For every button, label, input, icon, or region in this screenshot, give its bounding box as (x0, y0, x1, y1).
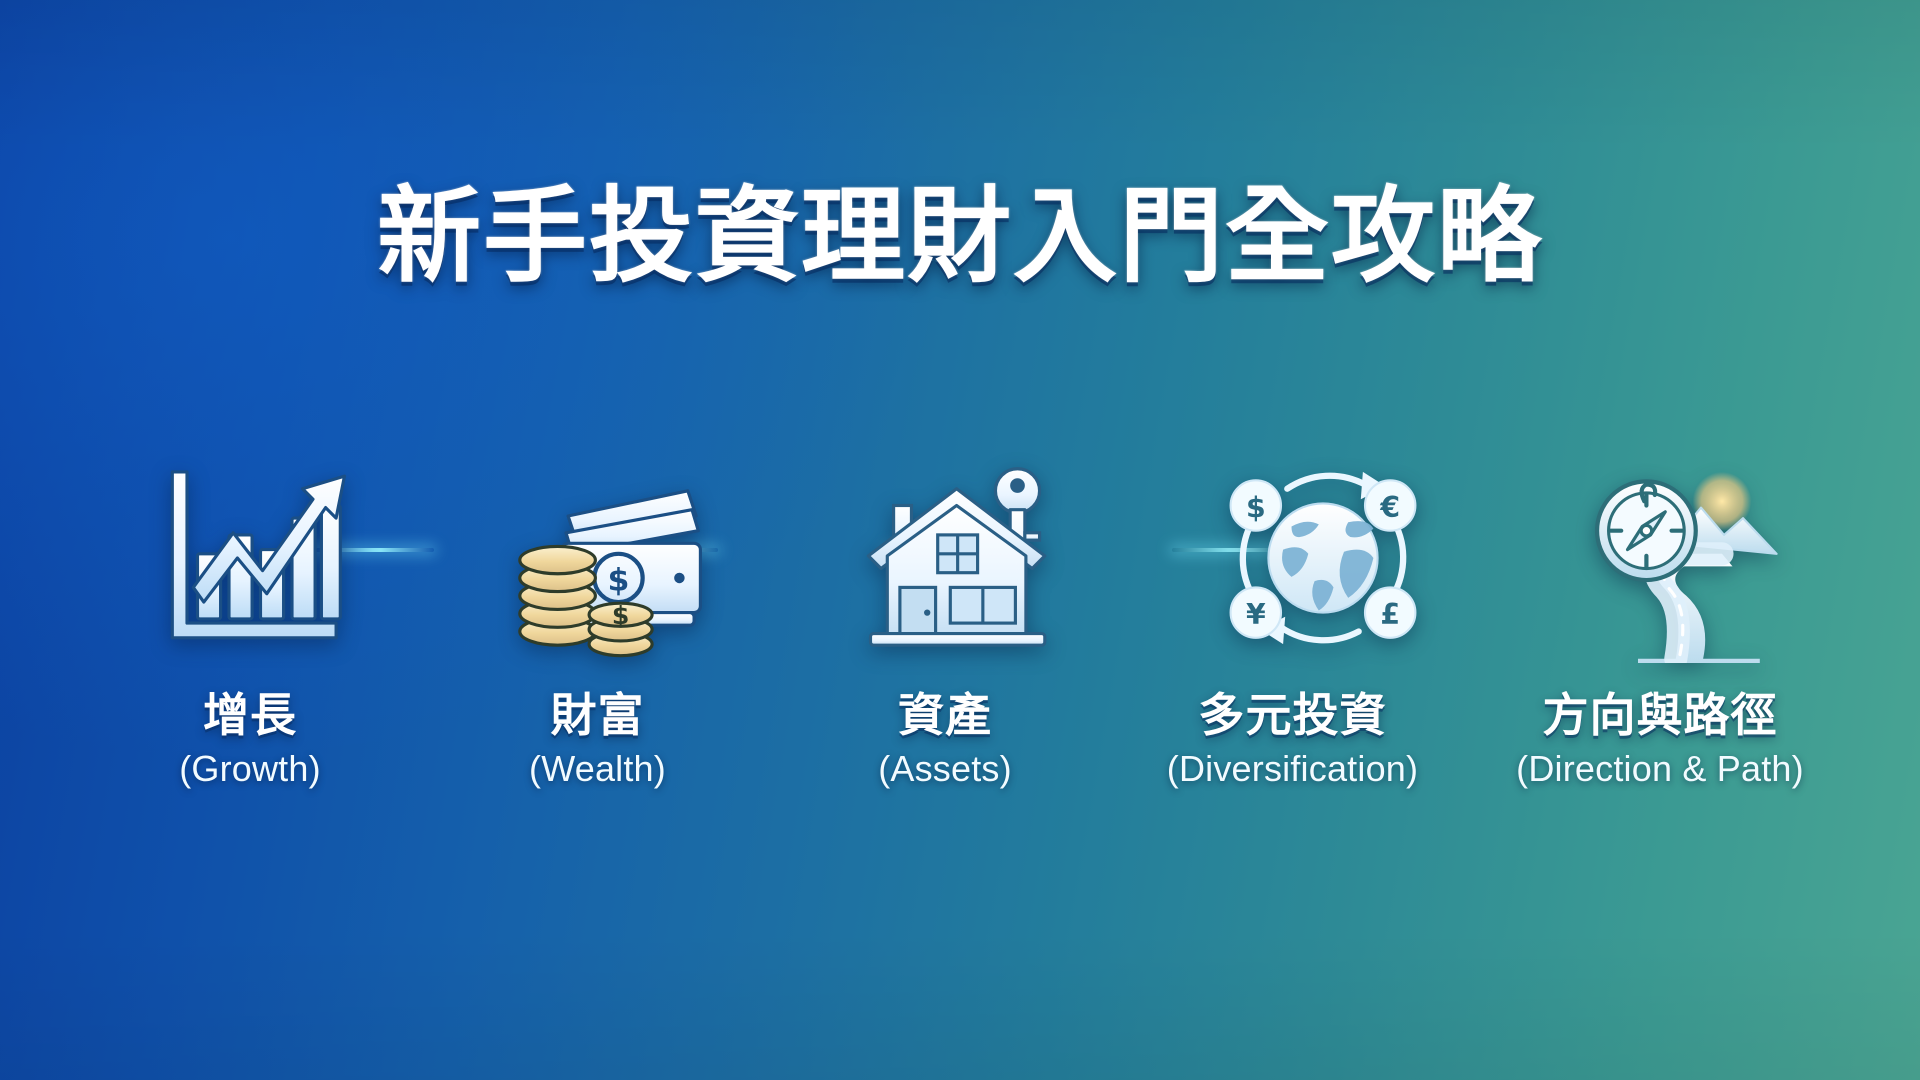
house-key-icon (860, 453, 1070, 663)
item-diversification: $ € ¥ £ (1173, 408, 1473, 708)
label-wealth: 財富 (Wealth) (448, 690, 748, 789)
svg-text:¥: ¥ (1245, 598, 1265, 631)
svg-text:$: $ (1245, 491, 1265, 524)
label-wealth-zh: 財富 (448, 690, 748, 742)
item-assets (815, 408, 1115, 708)
compass-road-icon (1575, 453, 1785, 663)
label-direction-path: 方向與路徑 (Direction & Path) (1490, 690, 1830, 789)
item-direction-path (1530, 408, 1830, 708)
item-growth (100, 408, 400, 708)
svg-text:€: € (1379, 491, 1400, 524)
label-diversification-en: (Diversification) (1123, 748, 1463, 789)
bar-chart-growth-icon (145, 453, 355, 663)
money-coins-banknotes-icon: $ (503, 453, 713, 663)
label-assets: 資產 (Assets) (795, 690, 1095, 789)
label-row: 增長 (Growth) 財富 (Wealth) 資產 (Assets) 多元投資… (100, 690, 1830, 789)
globe-currencies-icon: $ € ¥ £ (1218, 453, 1428, 663)
item-wealth: $ (458, 408, 758, 708)
label-assets-zh: 資產 (795, 690, 1095, 742)
svg-text:$: $ (611, 601, 629, 630)
label-growth-en: (Growth) (100, 748, 400, 789)
label-diversification-zh: 多元投資 (1123, 690, 1463, 742)
icon-row: $ (100, 408, 1830, 708)
label-wealth-en: (Wealth) (448, 748, 748, 789)
infographic-banner: 新手投資理財入門全攻略 (0, 0, 1920, 1080)
page-title: 新手投資理財入門全攻略 (377, 178, 1543, 294)
svg-text:£: £ (1380, 598, 1400, 631)
label-assets-en: (Assets) (795, 748, 1095, 789)
label-diversification: 多元投資 (Diversification) (1123, 690, 1463, 789)
label-growth: 增長 (Growth) (100, 690, 400, 789)
label-direction-path-zh: 方向與路徑 (1490, 690, 1830, 742)
label-direction-path-en: (Direction & Path) (1490, 748, 1830, 789)
svg-text:$: $ (607, 563, 629, 599)
title-container: 新手投資理財入門全攻略 (0, 108, 1920, 364)
label-growth-zh: 增長 (100, 690, 400, 742)
